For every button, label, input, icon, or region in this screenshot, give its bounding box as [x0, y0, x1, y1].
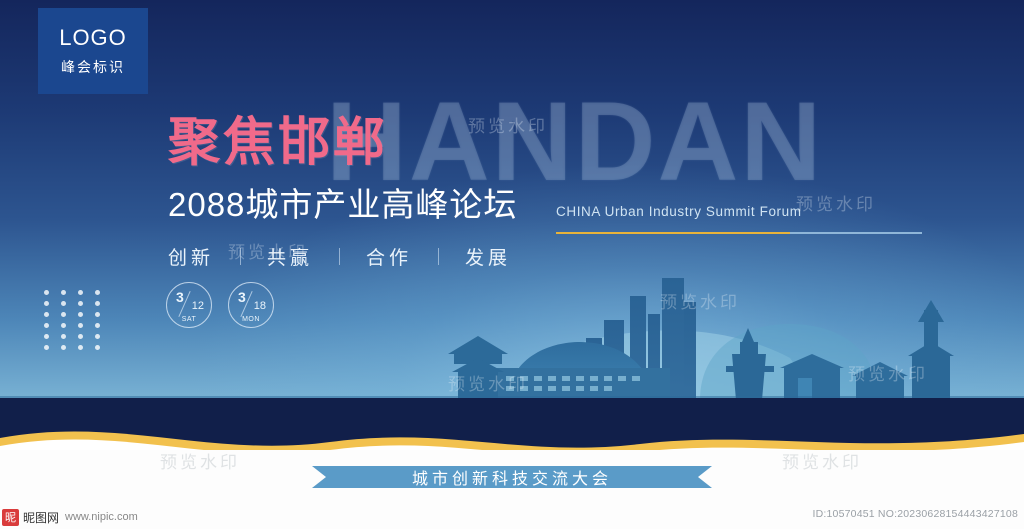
summit-logo-box: LOGO 峰会标识 — [38, 8, 148, 94]
site-mark-icon: 昵 — [2, 509, 19, 526]
subtitle-cn: 2088城市产业高峰论坛 — [168, 188, 517, 221]
site-url: www.nipic.com — [65, 511, 138, 523]
site-name: 昵图网 — [23, 509, 59, 526]
asset-id-text: ID:10570451 NO:20230628154443427108 — [812, 508, 1018, 520]
site-logo[interactable]: 昵 昵图网 www.nipic.com — [0, 505, 152, 529]
logo-text-en: LOGO — [59, 25, 127, 51]
blue-rule — [790, 232, 922, 234]
subtitle-en: CHINA Urban Industry Summit Forum — [556, 204, 802, 219]
ghost-headline: HANDAN — [326, 86, 823, 198]
city-skyline-silhouette — [0, 250, 1024, 400]
ribbon-label: 城市创新科技交流大会 — [312, 462, 712, 492]
site-footer: 昵 昵图网 www.nipic.com ID:10570451 NO:20230… — [0, 505, 1024, 529]
page-title: 聚焦邯郸 — [168, 117, 388, 169]
logo-text-cn: 峰会标识 — [61, 57, 125, 77]
poster-canvas: LOGO 峰会标识 HANDAN 聚焦邯郸 2088城市产业高峰论坛 CHINA… — [0, 0, 1024, 529]
